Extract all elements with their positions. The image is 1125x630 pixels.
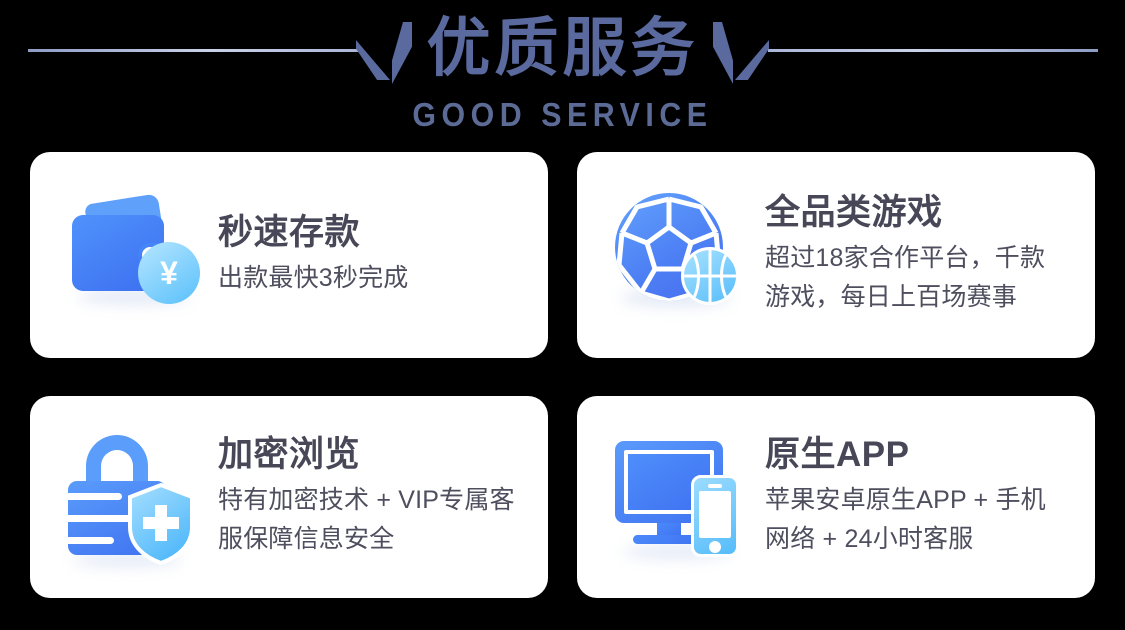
service-card-grid: ¥ 秒速存款 出款最快3秒完成 — [30, 152, 1095, 598]
wallet-yen-icon: ¥ — [60, 185, 212, 325]
service-card-deposit[interactable]: ¥ 秒速存款 出款最快3秒完成 — [30, 152, 548, 358]
shield-plus-icon — [126, 483, 196, 565]
monitor-phone-icon — [607, 427, 759, 567]
phone-home-button-icon — [709, 541, 721, 553]
card-desc-line: 超过18家合作平台，千款 — [765, 239, 1045, 278]
yen-coin-icon: ¥ — [138, 242, 200, 304]
lock-slot-icon — [68, 493, 122, 500]
phone-speaker-icon — [708, 484, 722, 488]
card-desc-line: 出款最快3秒完成 — [218, 259, 409, 298]
card-text-block: 秒速存款 出款最快3秒完成 — [212, 211, 409, 300]
service-card-native-app[interactable]: 原生APP 苹果安卓原生APP + 手机 网络 + 24小时客服 — [577, 396, 1095, 598]
page-header: 优质服务 GOOD SERVICE — [0, 0, 1125, 145]
lock-shield-icon — [60, 427, 212, 567]
card-desc-line: 游戏，每日上百场赛事 — [765, 278, 1045, 317]
page-subtitle: GOOD SERVICE — [45, 96, 1080, 134]
card-desc-line: 苹果安卓原生APP + 手机 — [765, 481, 1046, 520]
service-card-encryption[interactable]: 加密浏览 特有加密技术 + VIP专属客 服保障信息安全 — [30, 396, 548, 598]
card-desc-line: 特有加密技术 + VIP专属客 — [218, 481, 515, 520]
basketball-icon — [681, 247, 739, 305]
card-title: 加密浏览 — [218, 433, 515, 477]
service-card-games[interactable]: 全品类游戏 超过18家合作平台，千款 游戏，每日上百场赛事 — [577, 152, 1095, 358]
card-text-block: 全品类游戏 超过18家合作平台，千款 游戏，每日上百场赛事 — [759, 191, 1045, 319]
card-title: 全品类游戏 — [765, 191, 1045, 235]
card-desc-line: 服保障信息安全 — [218, 520, 515, 559]
phone-icon — [691, 475, 739, 557]
phone-screen-icon — [699, 491, 731, 538]
lock-slot-icon — [68, 537, 114, 544]
soccer-basketball-icon — [607, 185, 759, 325]
card-text-block: 加密浏览 特有加密技术 + VIP专属客 服保障信息安全 — [212, 433, 515, 561]
card-title: 原生APP — [765, 433, 1046, 477]
card-text-block: 原生APP 苹果安卓原生APP + 手机 网络 + 24小时客服 — [759, 433, 1046, 561]
page-title: 优质服务 — [0, 10, 1125, 86]
card-desc-line: 网络 + 24小时客服 — [765, 520, 1046, 559]
card-title: 秒速存款 — [218, 211, 409, 255]
